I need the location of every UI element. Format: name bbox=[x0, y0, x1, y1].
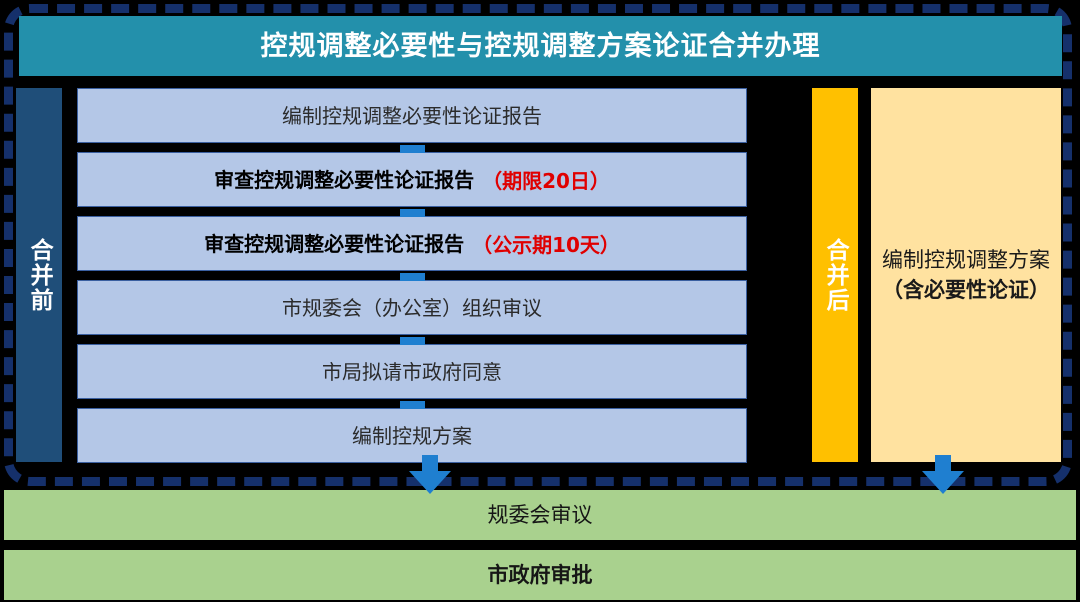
process-step-2[interactable]: 审查控规调整必要性论证报告 （期限20日） bbox=[77, 152, 747, 207]
diagram-canvas: 控规调整必要性与控规调整方案论证合并办理 合并前 编制控规调整必要性论证报告 审… bbox=[0, 0, 1080, 602]
process-step-3[interactable]: 审查控规调整必要性论证报告 （公示期10天） bbox=[77, 216, 747, 271]
process-step-6-label: 编制控规方案 bbox=[352, 426, 472, 446]
arrow-down-icon-left bbox=[408, 455, 452, 495]
process-step-2-label: 审查控规调整必要性论证报告 bbox=[214, 170, 474, 190]
before-merge-process-column: 编制控规调整必要性论证报告 审查控规调整必要性论证报告 （期限20日） 审查控规… bbox=[77, 88, 747, 462]
process-step-2-note: （期限20日） bbox=[482, 165, 610, 194]
diagram-title-banner: 控规调整必要性与控规调整方案论证合并办理 bbox=[19, 16, 1062, 76]
process-step-4[interactable]: 市规委会（办公室）组织审议 bbox=[77, 280, 747, 335]
outcome-bar-approval[interactable]: 市政府审批 bbox=[4, 550, 1076, 600]
outcome-bar-review-label: 规委会审议 bbox=[488, 505, 593, 526]
after-merge-bold-text: （含必要性论证） bbox=[882, 278, 1050, 302]
after-merge-process-box[interactable]: 编制控规调整方案（含必要性论证） bbox=[871, 88, 1061, 462]
before-merge-label-panel: 合并前 bbox=[16, 88, 62, 462]
process-step-5[interactable]: 市局拟请市政府同意 bbox=[77, 344, 747, 399]
diagram-title-text: 控规调整必要性与控规调整方案论证合并办理 bbox=[261, 33, 821, 60]
process-step-3-label: 审查控规调整必要性论证报告 bbox=[204, 234, 464, 254]
process-step-1[interactable]: 编制控规调整必要性论证报告 bbox=[77, 88, 747, 143]
process-step-5-label: 市局拟请市政府同意 bbox=[322, 362, 502, 382]
arrow-down-icon-right bbox=[921, 455, 965, 495]
after-merge-label-text: 合并后 bbox=[823, 238, 847, 313]
process-step-4-label: 市规委会（办公室）组织审议 bbox=[282, 298, 542, 318]
after-merge-lead-text: 编制控规调整方案 bbox=[882, 248, 1050, 272]
after-merge-label-panel: 合并后 bbox=[812, 88, 858, 462]
connector-tab-4 bbox=[400, 337, 425, 345]
outcome-bar-approval-label: 市政府审批 bbox=[488, 565, 593, 586]
connector-tab-1 bbox=[400, 145, 425, 153]
process-step-3-note: （公示期10天） bbox=[472, 229, 620, 258]
process-step-1-label: 编制控规调整必要性论证报告 bbox=[282, 106, 542, 126]
connector-tab-5 bbox=[400, 401, 425, 409]
after-merge-process-text: 编制控规调整方案（含必要性论证） bbox=[871, 245, 1061, 306]
outcome-bar-review[interactable]: 规委会审议 bbox=[4, 490, 1076, 540]
connector-tab-3 bbox=[400, 273, 425, 281]
connector-tab-2 bbox=[400, 209, 425, 217]
before-merge-label-text: 合并前 bbox=[27, 238, 51, 313]
